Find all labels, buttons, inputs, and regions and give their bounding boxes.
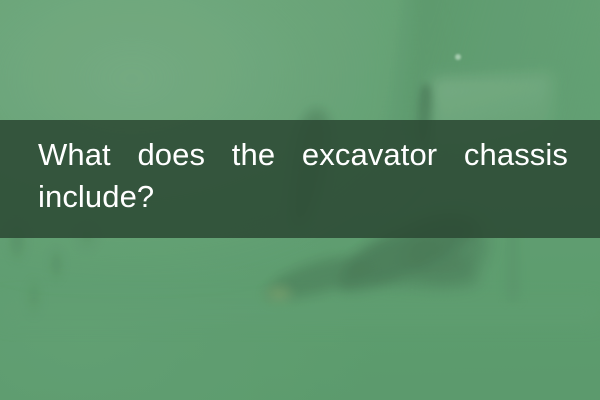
caption-band: What does the excavator chassis include? — [0, 120, 600, 238]
screenshot-canvas: What does the excavator chassis include? — [0, 0, 600, 400]
caption-text-container: What does the excavator chassis include? — [38, 134, 568, 260]
question-text: What does the excavator chassis include? — [38, 134, 568, 260]
